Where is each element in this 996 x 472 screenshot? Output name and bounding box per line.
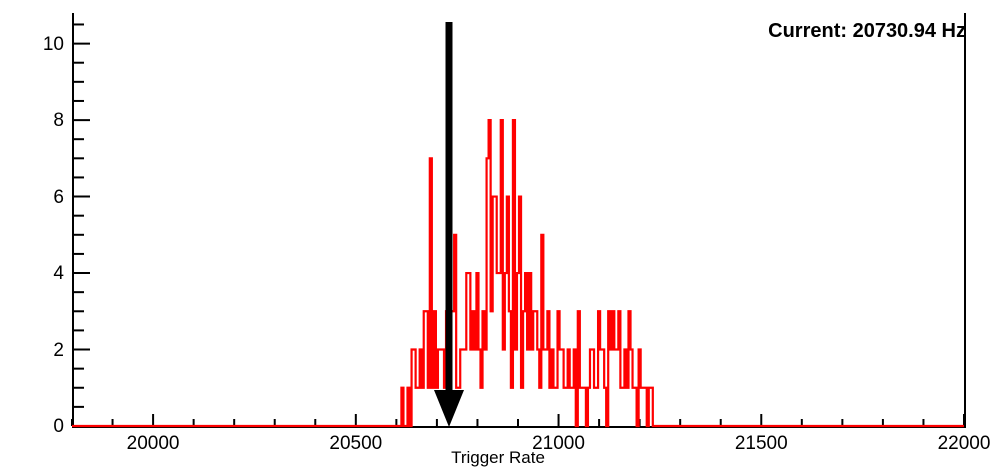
x-tick-label: 22000 — [904, 434, 996, 453]
y-tick-label: 0 — [20, 417, 64, 436]
y-tick-label: 6 — [20, 188, 64, 207]
x-tick-label: 20000 — [93, 434, 213, 453]
histogram-plot — [0, 0, 996, 472]
current-rate-arrow — [429, 22, 469, 434]
x-tick-label: 20500 — [296, 434, 416, 453]
chart-canvas: Current: 20730.94 Hz Trigger Rate 200002… — [0, 0, 996, 472]
y-tick-label: 10 — [20, 35, 64, 54]
x-tick-label: 21000 — [499, 434, 619, 453]
y-tick-label: 2 — [20, 341, 64, 360]
y-tick-label: 8 — [20, 111, 64, 130]
x-tick-label: 21500 — [701, 434, 821, 453]
y-tick-label: 4 — [20, 264, 64, 283]
